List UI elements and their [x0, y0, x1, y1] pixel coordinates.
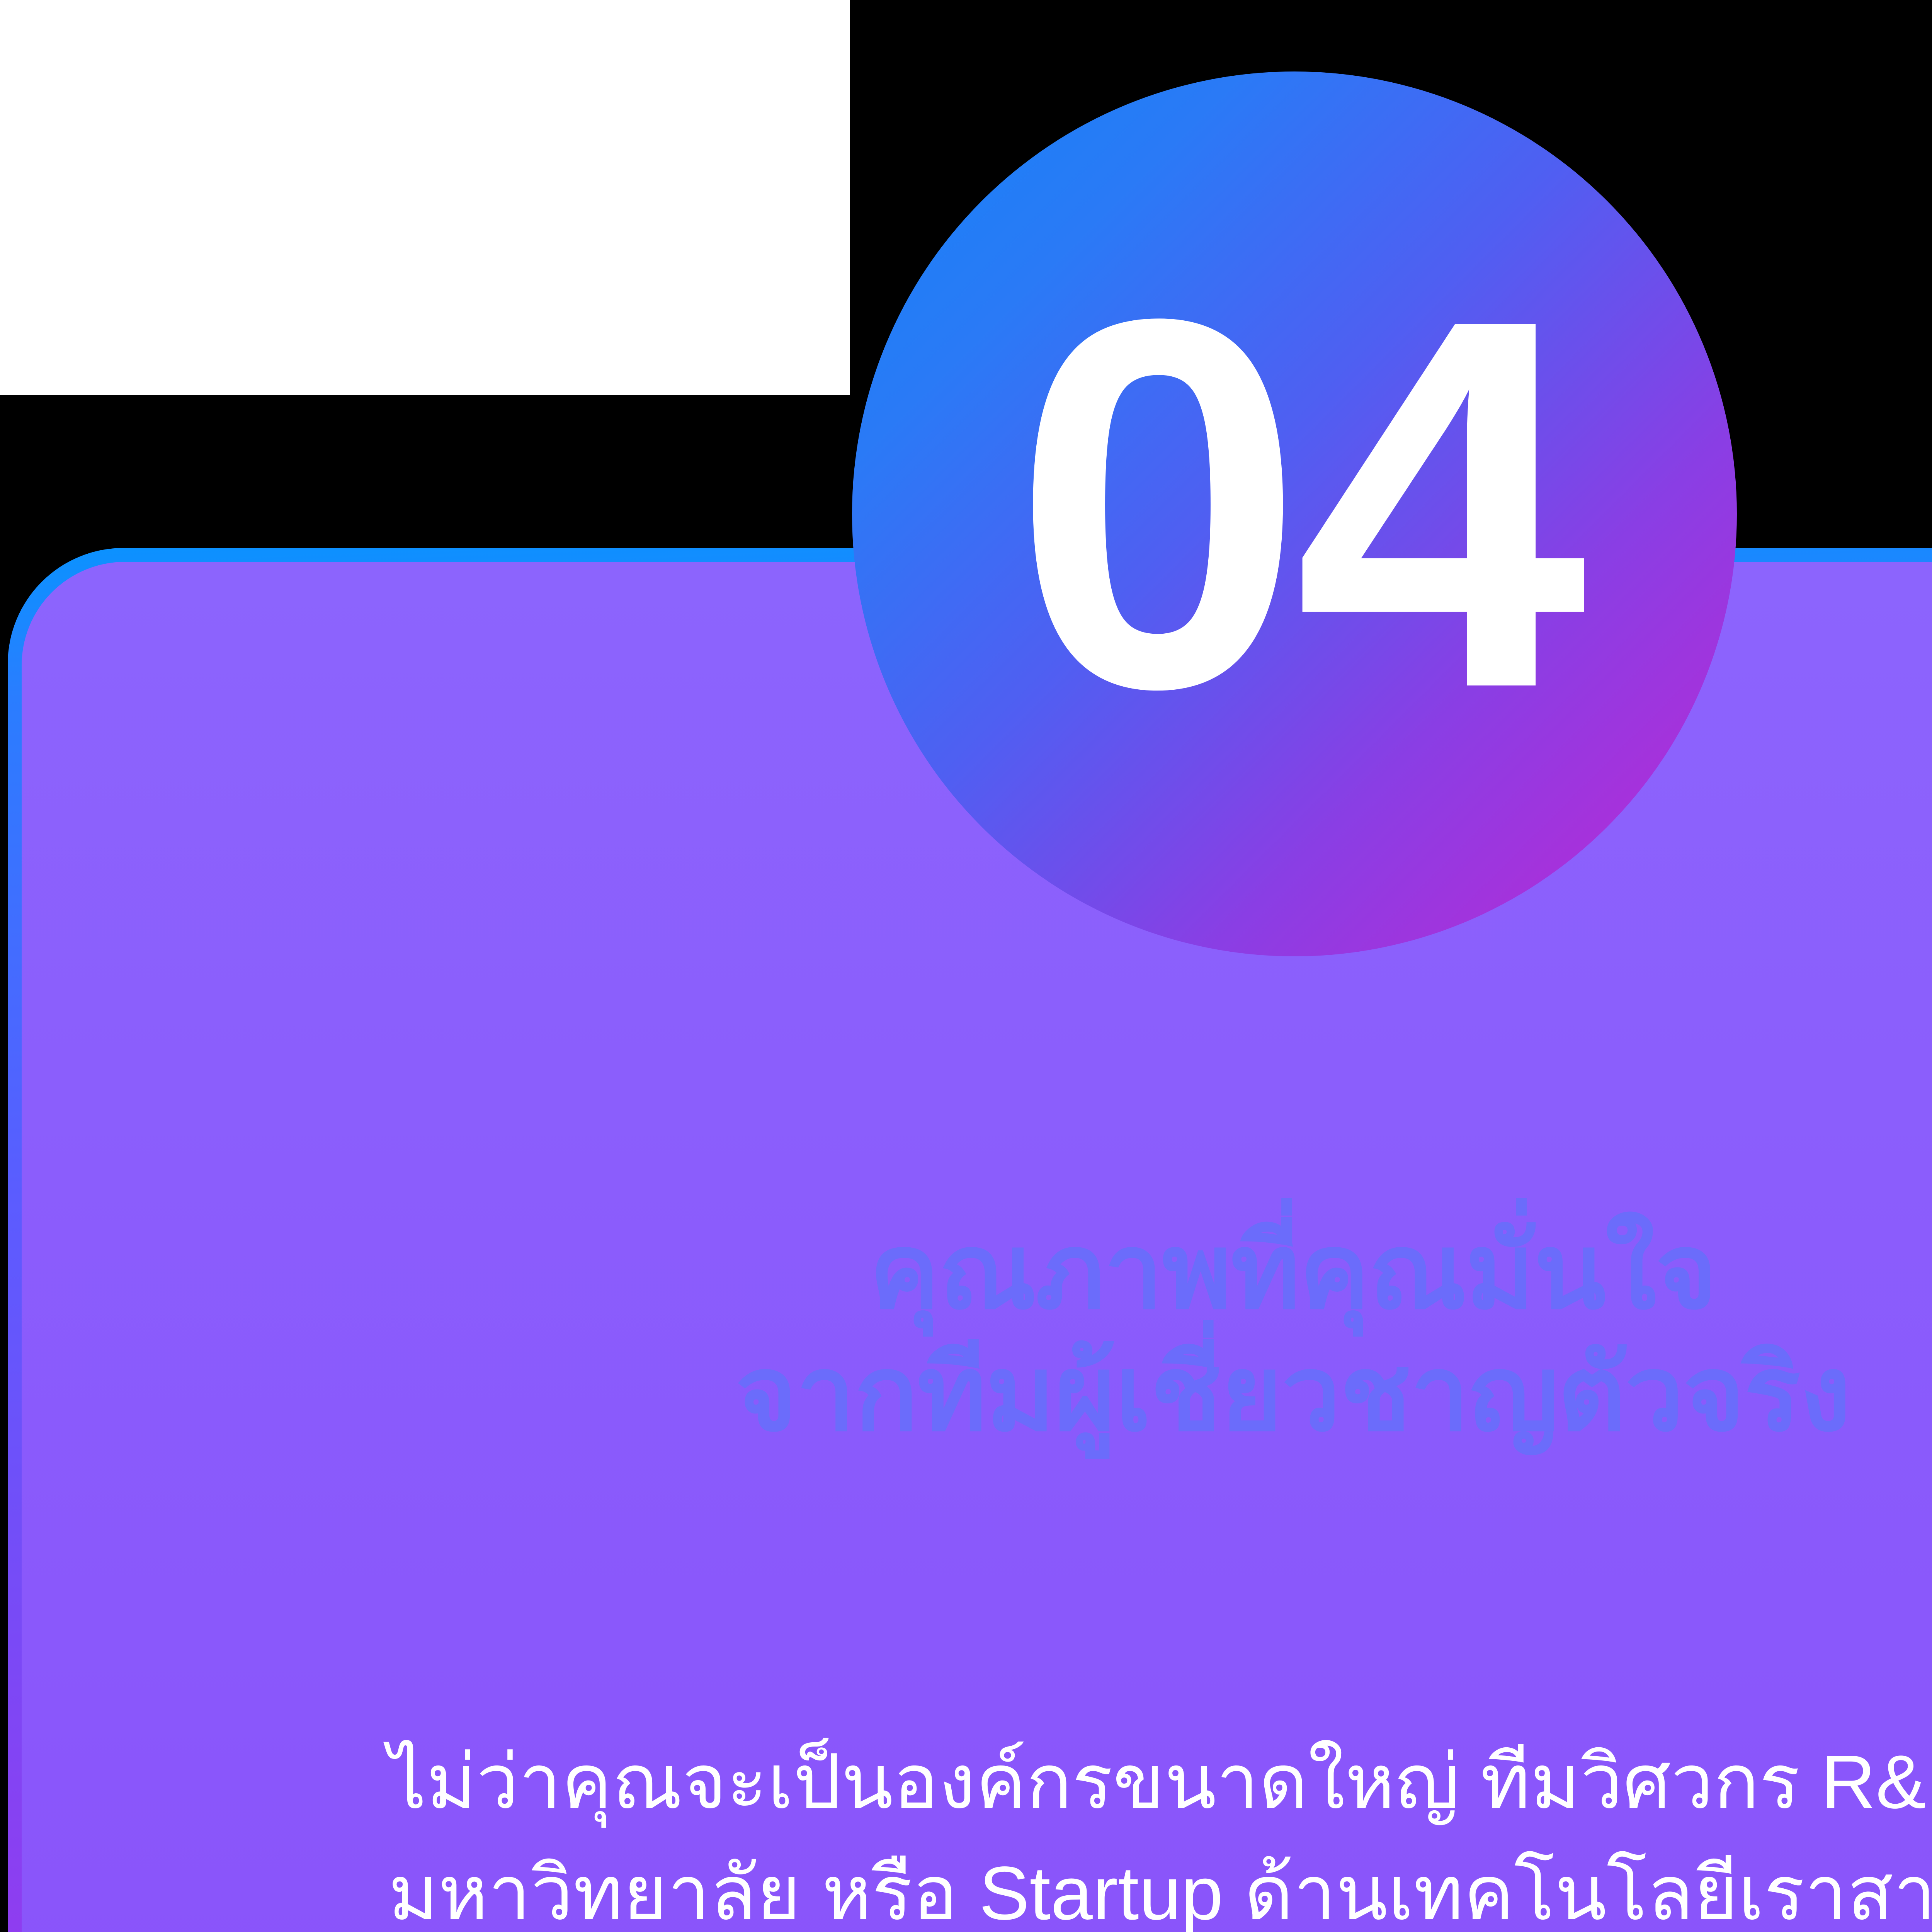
white-backdrop-plate: [0, 0, 850, 395]
card-body-line-2: มหาวิทยาลัย หรือ Startup ด้านเทคโนโลยีเร…: [388, 1838, 1932, 1932]
card-body-text: ไม่ว่าคุณจะเป็นองค์กรขนาดใหญ่ ทีมวิศวกร …: [388, 1726, 1932, 1932]
card-heading-line-1: คุณภาพที่คุณมั่นใจ: [70, 1211, 1932, 1333]
step-badge-number: 04: [1012, 241, 1577, 767]
card-heading-line-2: จากทีมผู้เชี่ยวชาญตัวจริง: [70, 1333, 1932, 1455]
card-heading: คุณภาพที่คุณมั่นใจ จากทีมผู้เชี่ยวชาญตัว…: [8, 1211, 1932, 1454]
card-body-line-1: ไม่ว่าคุณจะเป็นองค์กรขนาดใหญ่ ทีมวิศวกร …: [388, 1726, 1932, 1838]
step-number-badge: 04: [852, 71, 1737, 956]
